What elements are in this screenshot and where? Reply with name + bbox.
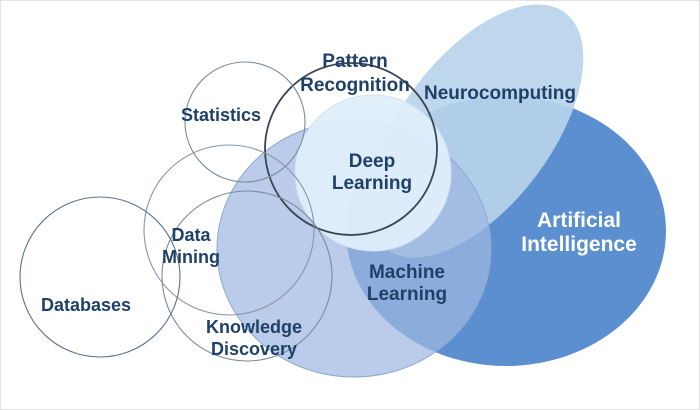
venn-shape-databases[interactable] bbox=[20, 197, 180, 357]
venn-label-databases: Databases bbox=[41, 295, 131, 315]
venn-label-line: Discovery bbox=[211, 339, 297, 359]
venn-label-line: Neurocomputing bbox=[424, 83, 576, 104]
venn-diagram-svg: ArtificialIntelligenceNeurocomputingMach… bbox=[1, 1, 700, 410]
venn-label-line: Machine bbox=[369, 262, 445, 283]
venn-label-statistics: Statistics bbox=[181, 105, 261, 125]
venn-label-line: Artificial bbox=[537, 209, 621, 232]
venn-label-line: Learning bbox=[367, 284, 447, 305]
venn-label-line: Deep bbox=[349, 151, 395, 172]
venn-label-line: Intelligence bbox=[521, 233, 637, 256]
venn-label-line: Databases bbox=[41, 295, 131, 315]
venn-label-line: Mining bbox=[162, 247, 220, 267]
venn-diagram-canvas: ArtificialIntelligenceNeurocomputingMach… bbox=[0, 0, 700, 410]
venn-label-artificial-intelligence: ArtificialIntelligence bbox=[521, 209, 637, 256]
venn-label-neurocomputing: Neurocomputing bbox=[424, 83, 576, 104]
venn-label-line: Statistics bbox=[181, 105, 261, 125]
venn-label-line: Learning bbox=[332, 173, 412, 194]
venn-label-data-mining: DataMining bbox=[162, 225, 220, 267]
venn-label-line: Knowledge bbox=[206, 317, 302, 337]
venn-label-line: Data bbox=[171, 225, 211, 245]
venn-label-machine-learning: MachineLearning bbox=[367, 262, 447, 305]
venn-label-line: Pattern bbox=[322, 51, 387, 72]
venn-label-line: Recognition bbox=[300, 75, 410, 96]
